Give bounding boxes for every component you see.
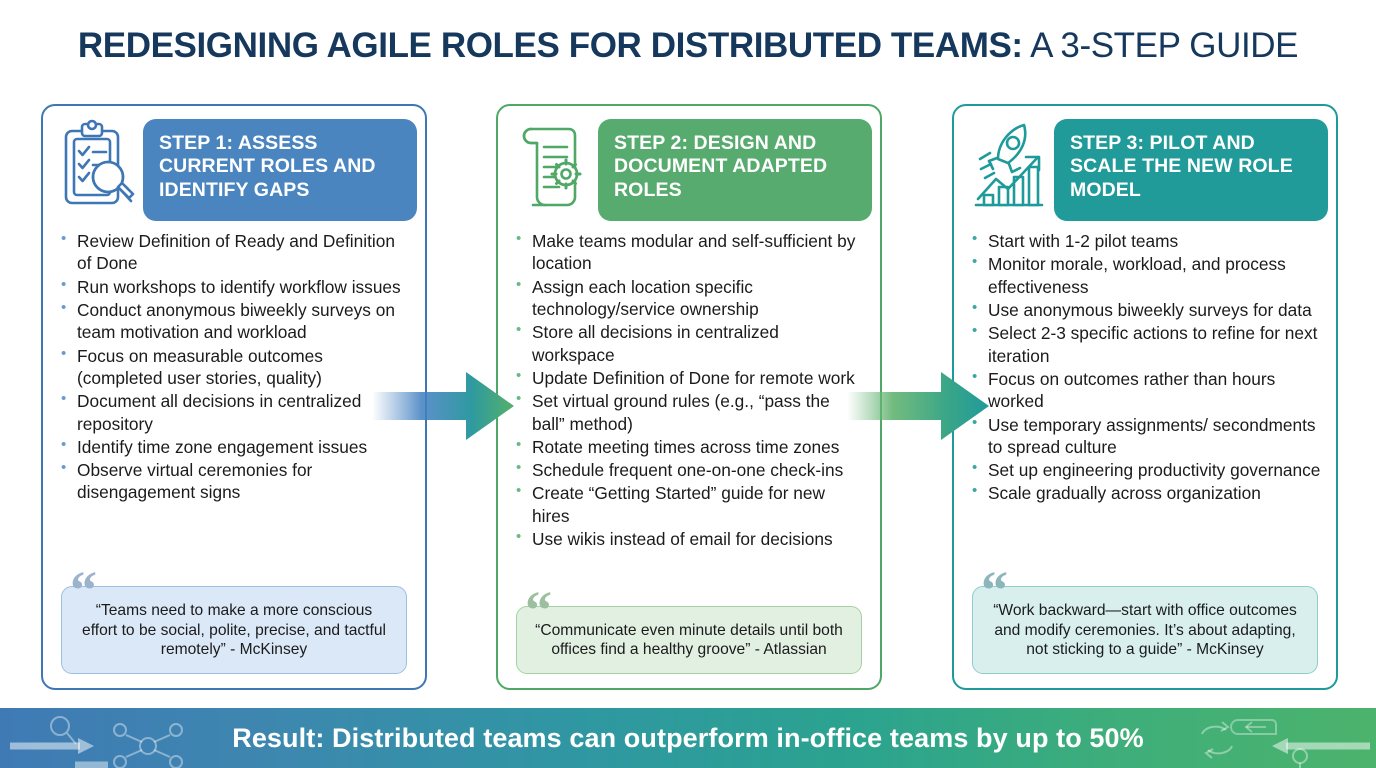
list-item: Use temporary assignments/ secondments t… bbox=[970, 414, 1322, 459]
step-1-quote-text: “Teams need to make a more conscious eff… bbox=[82, 602, 386, 658]
step-2-bullet-list: Make teams modular and self-sufficient b… bbox=[514, 230, 866, 550]
list-item: Schedule frequent one-on-one check-ins bbox=[514, 459, 866, 481]
step-2-quote-text: “Communicate even minute details until b… bbox=[535, 622, 843, 659]
list-item: Run workshops to identify workflow issue… bbox=[59, 276, 411, 298]
org-chart-icon bbox=[1276, 749, 1324, 768]
list-item: Set virtual ground rules (e.g., “pass th… bbox=[514, 390, 866, 435]
step-1-heading: STEP 1: ASSESS CURRENT ROLES AND IDENTIF… bbox=[143, 119, 417, 221]
list-item: Set up engineering productivity governan… bbox=[970, 459, 1322, 481]
scroll-document-gear-icon bbox=[510, 116, 596, 216]
left-arrow-icon bbox=[1272, 738, 1370, 754]
step-1-quote-box: “ “Teams need to make a more conscious e… bbox=[61, 586, 407, 674]
right-arrow-icon bbox=[10, 738, 108, 765]
step-3-header: STEP 3: PILOT AND SCALE THE NEW ROLE MOD… bbox=[954, 106, 1336, 224]
step-1-bullet-list: Review Definition of Ready and Definitio… bbox=[59, 230, 411, 504]
page-title: REDESIGNING AGILE ROLES FOR DISTRIBUTED … bbox=[0, 26, 1376, 66]
step-3-quote-box: “ “Work backward—start with office outco… bbox=[972, 586, 1318, 674]
steps-container: STEP 1: ASSESS CURRENT ROLES AND IDENTIF… bbox=[0, 104, 1376, 690]
step-2-heading: STEP 2: DESIGN AND DOCUMENT ADAPTED ROLE… bbox=[598, 119, 872, 221]
arrow-step1-to-step2 bbox=[372, 370, 514, 442]
refresh-cycle-icon bbox=[1202, 722, 1232, 758]
step-3-heading: STEP 3: PILOT AND SCALE THE NEW ROLE MOD… bbox=[1054, 119, 1328, 221]
quote-mark-icon: “ bbox=[70, 563, 97, 617]
list-item: Store all decisions in centralized works… bbox=[514, 321, 866, 366]
step-card-3[interactable]: STEP 3: PILOT AND SCALE THE NEW ROLE MOD… bbox=[952, 104, 1338, 690]
list-item: Monitor morale, workload, and process ef… bbox=[970, 253, 1322, 298]
list-item: Document all decisions in centralized re… bbox=[59, 390, 411, 435]
list-item: Use wikis instead of email for decisions bbox=[514, 528, 866, 550]
search-icon bbox=[51, 717, 76, 744]
step-3-bullet-list: Start with 1-2 pilot teams Monitor moral… bbox=[970, 230, 1322, 505]
list-item: Focus on measurable outcomes (completed … bbox=[59, 345, 411, 390]
page-title-light: A 3-STEP GUIDE bbox=[1023, 26, 1298, 65]
network-nodes-icon bbox=[114, 724, 182, 768]
arrow-step2-to-step3 bbox=[847, 370, 989, 442]
document-arrow-icon bbox=[1231, 720, 1276, 734]
list-item: Identify time zone engagement issues bbox=[59, 436, 411, 458]
list-item: Make teams modular and self-sufficient b… bbox=[514, 230, 866, 275]
list-item: Start with 1-2 pilot teams bbox=[970, 230, 1322, 252]
list-item: Update Definition of Done for remote wor… bbox=[514, 367, 866, 389]
step-card-1[interactable]: STEP 1: ASSESS CURRENT ROLES AND IDENTIF… bbox=[41, 104, 427, 690]
quote-mark-icon: “ bbox=[525, 583, 552, 637]
list-item: Conduct anonymous biweekly surveys on te… bbox=[59, 299, 411, 344]
step-3-quote-text: “Work backward—start with office outcome… bbox=[993, 602, 1297, 658]
infographic-page: REDESIGNING AGILE ROLES FOR DISTRIBUTED … bbox=[0, 0, 1376, 768]
list-item: Assign each location specific technology… bbox=[514, 276, 866, 321]
quote-mark-icon: “ bbox=[981, 563, 1008, 617]
step-3-quote-wrap: “ “Work backward—start with office outco… bbox=[972, 586, 1318, 674]
page-title-bold: REDESIGNING AGILE ROLES FOR DISTRIBUTED … bbox=[78, 26, 1023, 65]
step-2-header: STEP 2: DESIGN AND DOCUMENT ADAPTED ROLE… bbox=[498, 106, 880, 224]
list-item: Focus on outcomes rather than hours work… bbox=[970, 368, 1322, 413]
list-item: Select 2-3 specific actions to refine fo… bbox=[970, 322, 1322, 367]
list-item: Use anonymous biweekly surveys for data bbox=[970, 299, 1322, 321]
step-1-header: STEP 1: ASSESS CURRENT ROLES AND IDENTIF… bbox=[43, 106, 425, 224]
rocket-growth-chart-icon bbox=[966, 116, 1052, 216]
list-item: Scale gradually across organization bbox=[970, 482, 1322, 504]
list-item: Rotate meeting times across time zones bbox=[514, 436, 866, 458]
result-banner: Result: Distributed teams can outperform… bbox=[0, 708, 1376, 768]
list-item: Create “Getting Started” guide for new h… bbox=[514, 482, 866, 527]
clipboard-checklist-magnifier-icon bbox=[55, 116, 141, 216]
list-item: Review Definition of Ready and Definitio… bbox=[59, 230, 411, 275]
step-1-quote-wrap: “ “Teams need to make a more conscious e… bbox=[61, 586, 407, 674]
step-card-2[interactable]: STEP 2: DESIGN AND DOCUMENT ADAPTED ROLE… bbox=[496, 104, 882, 690]
list-item: Observe virtual ceremonies for disengage… bbox=[59, 459, 411, 504]
step-2-quote-wrap: “ “Communicate even minute details until… bbox=[516, 606, 862, 674]
result-banner-text: Result: Distributed teams can outperform… bbox=[232, 723, 1144, 754]
step-2-quote-box: “ “Communicate even minute details until… bbox=[516, 606, 862, 674]
